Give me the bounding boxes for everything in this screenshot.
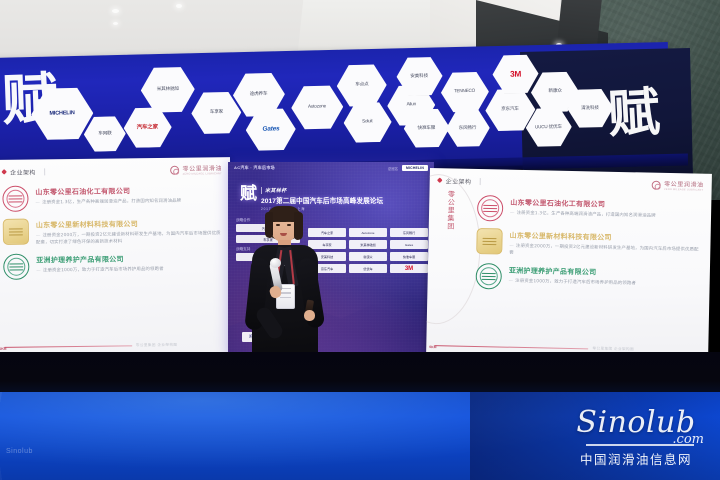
sponsor-hex-tile: 车点点 <box>336 63 387 108</box>
sponsor-hex-tile: 3M <box>492 53 539 95</box>
company-description: —注册资金1.3亿，生产各种高端润滑油产品，打造国内知名润滑油品牌 <box>35 198 222 207</box>
led-sponsor-chip: MICHELIN <box>402 165 428 171</box>
company-seal-icon <box>476 228 503 255</box>
sponsor-hex-label: 安美科技 <box>411 74 429 79</box>
sponsor-hex-label: 车享家 <box>210 110 223 115</box>
sponsor-hex-label: 途虎养车 <box>250 92 268 97</box>
left-slide-brand-logo: 零公里润滑油 ZERO MILEAGE LUBRICANT <box>170 163 222 176</box>
sponsor-hex-label: TENNECO <box>454 90 475 95</box>
led-sponsor-chip-item: 3M <box>390 264 428 273</box>
footer-mini-mark: 0KM <box>0 347 7 351</box>
company-seal-icon <box>3 254 29 280</box>
company-name: 山东零公里新材料科技有限公司 <box>36 218 223 230</box>
left-slide-entries: 山东零公里石油化工有限公司—注册资金1.3亿，生产各种高端润滑油产品，打造国内知… <box>2 183 223 280</box>
company-description: —注册资金1.3亿，生产各种高端润滑油产品，打造国内知名润滑油品牌 <box>510 211 703 222</box>
led-sponsor-chip-item: Gates <box>390 240 428 249</box>
left-slide: 企业架构 零公里润滑油 ZERO MILEAGE LUBRICANT 山东零公里… <box>0 157 232 356</box>
speaker-eye-right <box>287 224 291 226</box>
speaker-hair-left <box>265 212 273 238</box>
brand-seal-icon <box>652 180 661 189</box>
company-seal-icon <box>2 186 28 212</box>
sponsor-hex-tile: 米其林驰加 <box>140 65 195 114</box>
sponsor-hex-tile: Soluit <box>343 101 392 144</box>
right-slide-entries: 山东零公里石油化工有限公司—注册资金1.3亿，生产各种高端润滑油产品，打造国内知… <box>475 195 703 294</box>
company-description: —注册资金2000万，一期投资2亿元建设新材料研发生产基地，为国内汽车后市场提供… <box>36 231 223 247</box>
sponsor-hex-label: 东风畅行 <box>459 126 477 131</box>
led-sponsor-chip-item: Autozone <box>349 228 387 237</box>
right-slide-brand-logo: 零公里润滑油 ZERO MILEAGE LUBRICANT <box>652 179 704 192</box>
sponsor-hex-label: 米其林驰加 <box>157 87 179 92</box>
sponsor-hex-label: 清洗科技 <box>581 106 599 111</box>
company-entry: 亚洲护理养护产品有限公司—注册资金1000万，致力于打造汽车后市场养护用品的领跑… <box>3 251 223 280</box>
sponsor-hex-tile: 东风畅行 <box>445 108 490 148</box>
company-name: 山东零公里石油化工有限公司 <box>35 185 222 197</box>
sponsor-hex-label: Ailun <box>407 103 416 108</box>
company-entry: 山东零公里新材料科技有限公司—注册资金2000万，一期投资2亿元建设新材料研发生… <box>476 228 703 261</box>
sponsor-hex-tile: Autozone <box>291 84 344 131</box>
company-description: —注册资金2000万，一期投资2亿元建设新材料研发生产基地，为国内汽车后市场提供… <box>509 244 702 261</box>
company-name: 山东零公里新材料科技有限公司 <box>509 231 702 245</box>
sponsor-hex-label: Soluit <box>362 120 373 125</box>
led-sponsor-chip-item: 东风畅行 <box>390 228 428 237</box>
sponsor-hex-label: 汽车之家 <box>137 125 158 131</box>
sponsor-hex-tile: TENNECO <box>440 70 489 113</box>
left-slide-title: 企业架构 <box>10 167 36 176</box>
speaker-eyebrow-left <box>275 221 280 222</box>
led-cup-label: 米其林杯 <box>261 187 383 194</box>
speaker-eyebrow-right <box>286 221 291 222</box>
company-entry: 山东零公里新材料科技有限公司—注册资金2000万，一期投资2亿元建设新材料研发生… <box>3 216 223 247</box>
left-slide-footer: 零公里集团 企业架构图 <box>4 342 224 350</box>
led-sponsor-label: 总冠名 <box>388 166 398 171</box>
left-projection-screen: 企业架构 零公里润滑油 ZERO MILEAGE LUBRICANT 山东零公里… <box>0 157 232 356</box>
company-entry: 山东零公里石油化工有限公司—注册资金1.3亿，生产各种高端润滑油产品，打造国内知… <box>477 195 703 226</box>
watermark-corner: Sinolub <box>6 448 33 455</box>
company-name: 山东零公里石油化工有限公司 <box>510 198 703 212</box>
downlight-icon <box>113 22 118 25</box>
footer-label: 零公里集团 企业架构图 <box>136 343 178 349</box>
footer-bar <box>434 345 588 350</box>
watermark: Sinolub .com 中国润滑油信息网 <box>560 408 712 472</box>
footer-mini-mark: 0KM <box>429 345 436 349</box>
sponsor-hex-label: 京东汽车 <box>501 107 519 112</box>
divider <box>479 178 480 185</box>
company-entry: 山东零公里石油化工有限公司—注册资金1.3亿，生产各种高端润滑油产品，打造国内知… <box>2 183 222 212</box>
company-entry: 亚洲护理养护产品有限公司—注册资金1000万，致力于打造汽车后市场养护用品的领跑… <box>475 263 701 294</box>
sponsor-hex-label: UUCU 优优车 <box>535 125 562 130</box>
company-name: 亚洲护理养护产品有限公司 <box>36 253 223 265</box>
led-topbar: AC汽车 · 汽车后市场 总冠名 MICHELIN <box>228 162 434 174</box>
company-seal-icon <box>477 195 504 222</box>
led-sponsor-chip-item: 米其林驰加 <box>349 240 387 249</box>
microphone-head-icon <box>270 258 281 268</box>
sponsor-hex-label: Autozone <box>308 105 326 110</box>
sponsor-hex-tile: 汽车之家 <box>123 106 172 149</box>
sponsor-hex-label: MICHELIN <box>50 111 75 117</box>
sponsor-hex-tile: 车网联 <box>83 115 126 153</box>
sponsor-hex-label: 3M <box>510 70 521 79</box>
led-sponsor-chip-item: 新康众 <box>349 252 387 261</box>
bullet-diamond-icon <box>1 169 7 175</box>
brand-seal-icon <box>170 165 179 174</box>
downlight-icon <box>112 9 119 13</box>
right-slide: 企业架构 零公里润滑油 ZERO MILEAGE LUBRICANT 零公里集团… <box>426 168 712 360</box>
company-description: —注册资金1000万，致力于打造汽车后市场养护用品的领跑者 <box>509 279 702 290</box>
divider <box>44 168 45 175</box>
watermark-chinese: 中国润滑油信息网 <box>560 449 712 468</box>
led-sponsor-chip-item: 快准车服 <box>390 252 428 261</box>
left-slide-header: 企业架构 零公里润滑油 ZERO MILEAGE LUBRICANT <box>2 163 222 181</box>
downlight-icon <box>176 4 182 8</box>
right-slide-header: 企业架构 零公里润滑油 ZERO MILEAGE LUBRICANT <box>438 174 704 195</box>
led-sponsor-block: 总冠名 MICHELIN <box>388 165 428 171</box>
sponsor-hex-label: Gates <box>262 126 279 133</box>
watermark-underline <box>586 444 694 446</box>
speaker-eye-left <box>276 224 280 226</box>
right-projection-screen: 企业架构 零公里润滑油 ZERO MILEAGE LUBRICANT 零公里集团… <box>426 168 712 360</box>
brand-subtitle: ZERO MILEAGE LUBRICANT <box>664 188 704 192</box>
footer-bar <box>4 345 132 348</box>
conference-photo-scene: 赋 赋 MICHELIN汽车之家米其林驰加车享家途虎养车GatesAutozon… <box>0 0 720 480</box>
led-sponsor-chip-item: 优优车 <box>349 264 387 273</box>
sponsor-hex-label: 新康众 <box>548 89 561 94</box>
company-seal-icon <box>3 219 29 245</box>
company-name: 亚洲护理养护产品有限公司 <box>509 266 702 280</box>
sponsor-hex-label: 车点点 <box>355 83 368 88</box>
sponsor-hex-label: 车网联 <box>98 131 111 136</box>
led-organizer-brand: AC汽车 · 汽车后市场 <box>234 165 275 171</box>
brand-name: 零公里润滑油 <box>182 163 222 172</box>
speaker-hair-right <box>294 212 303 240</box>
company-seal-icon <box>475 263 502 290</box>
brand-subtitle: ZERO MILEAGE LUBRICANT <box>183 172 223 175</box>
company-description: —注册资金1000万，致力于打造汽车后市场养护用品的领跑者 <box>36 266 223 275</box>
sponsor-hex-label: 快准车服 <box>418 126 436 131</box>
speaker-hand-right <box>304 310 315 321</box>
group-vertical-label: 零公里集团 <box>439 190 456 230</box>
